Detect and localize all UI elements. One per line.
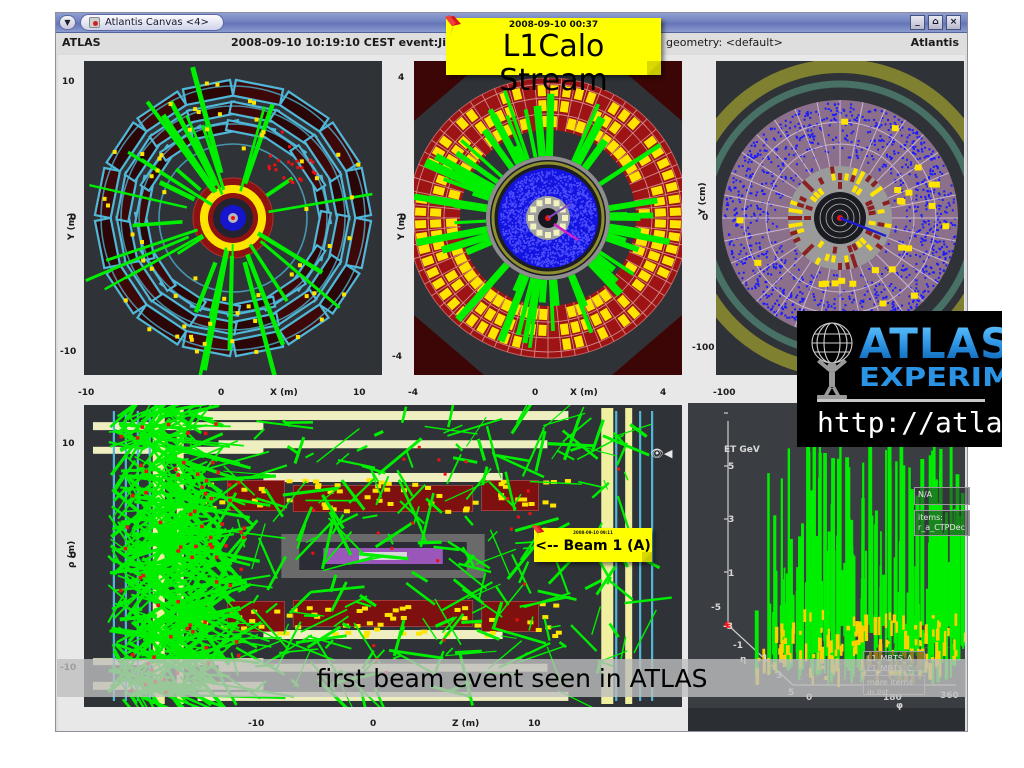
note-fold-corner — [647, 61, 661, 75]
ztick: 1 — [728, 569, 734, 579]
sticky-note-l1calo[interactable]: 2008-09-10 00:37 L1Calo Stream — [446, 18, 661, 75]
close-button[interactable]: × — [946, 15, 961, 30]
panel-xy-inner-ylabel: Y (cm) — [698, 182, 708, 215]
header-app-name: Atlantis — [911, 36, 959, 49]
lego-philabel: φ — [896, 701, 903, 711]
xtick: -10 — [78, 388, 94, 398]
maximize-button[interactable]: ⌂ — [928, 15, 943, 30]
pushpin-icon — [529, 524, 549, 544]
sticky-note-beam1-text: <-- Beam 1 (A) — [534, 536, 652, 556]
etatick: -1 — [733, 641, 743, 651]
panel-xy-calo[interactable]: Y (m) 4 0 -4 X (m) -4 0 4 — [388, 55, 688, 403]
ytick: 0 — [70, 213, 76, 223]
ytick: -4 — [392, 352, 402, 362]
atlantis-app-icon — [89, 17, 100, 28]
panel-xy-muon-xlabel: X (m) — [270, 388, 298, 398]
atlas-logo-subtitle: EXPERIMENT — [859, 365, 1002, 391]
ytick: 4 — [398, 73, 404, 83]
header-experiment: ATLAS — [62, 36, 101, 49]
atlas-logo-url: http://atlas.ch — [817, 405, 1002, 441]
lego-info-na: N/A — [914, 487, 970, 505]
ztick: 5 — [728, 462, 734, 472]
header-geometry: geometry: <default> — [666, 36, 783, 49]
sticky-note-beam1[interactable]: 2008-09-10 09:11 <-- Beam 1 (A) — [534, 528, 652, 562]
window-tab-atlantis-canvas[interactable]: Atlantis Canvas <4> — [80, 14, 224, 31]
ytick: 0 — [400, 213, 406, 223]
pushpin-icon — [441, 14, 467, 40]
etatick: -3 — [723, 622, 733, 632]
detector-graphics — [414, 61, 682, 375]
xtick: -10 — [248, 719, 264, 729]
etatick: -5 — [711, 603, 721, 613]
ytick: 0 — [702, 213, 708, 223]
xtick: 4 — [660, 388, 666, 398]
atlas-logo: ATLAS EXPERIMENT http://atlas.ch — [797, 311, 1002, 447]
atlas-logo-title: ATLAS — [859, 323, 1002, 365]
panel-rho-z-xlabel: Z (m) — [452, 719, 479, 729]
ytick: -10 — [60, 347, 76, 357]
ytick: -100 — [692, 343, 715, 353]
panel-xy-calo-plot[interactable] — [414, 61, 682, 375]
xtick: -100 — [713, 388, 736, 398]
lego-info-items-value: r_a_CTPDec — [918, 523, 966, 533]
lego-zlabel: ET GeV — [724, 445, 760, 455]
atlas-atlant-figure-icon — [803, 321, 861, 399]
lego-info-items-label: items: — [918, 513, 966, 523]
screenshot-root: ▼ Atlantis Canvas <4> _ ⌂ × ATLAS 2008-0… — [0, 0, 1024, 768]
minimize-button[interactable]: _ — [910, 15, 925, 30]
ztick: 3 — [728, 515, 734, 525]
detector-graphics — [84, 61, 382, 375]
ytick: 0 — [70, 551, 76, 561]
note-fold-corner — [642, 552, 652, 562]
sticky-note-beam1-date: 2008-09-10 09:11 — [534, 528, 652, 536]
xtick: 10 — [528, 719, 541, 729]
ytick: 10 — [62, 77, 75, 87]
panel-xy-muon-plot[interactable] — [84, 61, 382, 375]
ytick: 10 — [62, 439, 75, 449]
panel-xy-calo-xlabel: X (m) — [570, 388, 598, 398]
xtick: 0 — [370, 719, 376, 729]
xtick: 10 — [353, 388, 366, 398]
xtick: -4 — [408, 388, 418, 398]
window-tab-label: Atlantis Canvas <4> — [105, 17, 209, 28]
lego-info-items: items: r_a_CTPDec — [914, 510, 970, 536]
xtick: 0 — [218, 388, 224, 398]
window-controls: _ ⌂ × — [910, 15, 961, 30]
xtick: 0 — [532, 388, 538, 398]
atlas-logo-divider — [817, 399, 985, 402]
caption-text: first beam event seen in ATLAS — [0, 659, 1024, 697]
eye-icon[interactable]: 👁◀ — [650, 447, 672, 460]
sticky-note-l1calo-text: L1Calo Stream — [446, 30, 661, 98]
chevron-down-icon[interactable]: ▼ — [59, 15, 76, 30]
panel-xy-muon[interactable]: Y (m) 10 0 -10 X (m) -10 0 10 — [58, 55, 388, 403]
